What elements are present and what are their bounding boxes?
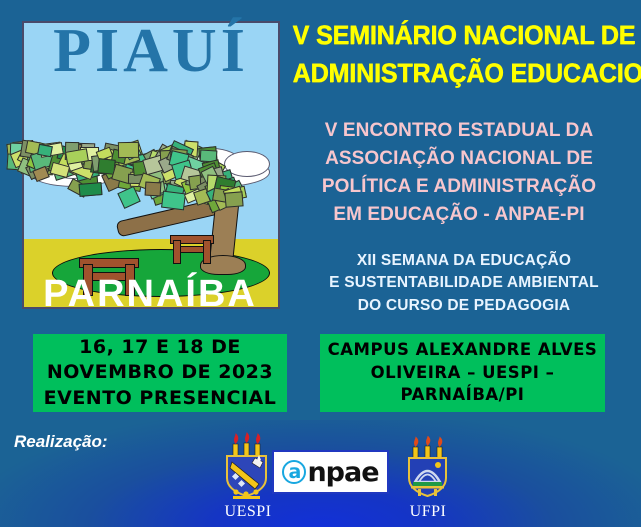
- tree-leaf: [225, 191, 244, 207]
- third-event-block: XII SEMANA DA EDUCAÇÃO E SUSTENTABILIDAD…: [290, 250, 638, 317]
- venue-line-3: PARNAÍBA/PI: [320, 384, 605, 406]
- tree-leaf: [161, 190, 186, 210]
- anpae-logo: anpae: [272, 450, 389, 494]
- date-line-1: 16, 17 E 18 DE: [33, 335, 287, 360]
- ufpi-logo-caption: UFPI: [395, 503, 461, 521]
- date-line-2: NOVEMBRO DE 2023: [33, 360, 287, 385]
- date-info-box: 16, 17 E 18 DE NOVEMBRO DE 2023 EVENTO P…: [33, 334, 287, 412]
- state-label: PIAUÍ: [24, 20, 278, 82]
- third-event-line-3: DO CURSO DE PEDAGOGIA: [290, 295, 638, 317]
- event-poster: PIAUÍ PARNAÍBA V SEMINÁRIO NACIONAL DE A…: [0, 0, 641, 527]
- uespi-logo-caption: UESPI: [213, 503, 283, 521]
- tree-leaf: [79, 182, 102, 196]
- subtitle-line-3: POLÍTICA E ADMINISTRAÇÃO: [280, 173, 638, 201]
- subtitle-line-2: ASSOCIAÇÃO NACIONAL DE: [280, 145, 638, 173]
- main-title-line-2: ADMINISTRAÇÃO EDUCACIONAL: [293, 54, 626, 92]
- subtitle-block: V ENCONTRO ESTADUAL DA ASSOCIAÇÃO NACION…: [280, 117, 638, 229]
- uespi-crest-icon: [219, 432, 277, 502]
- date-line-3: EVENTO PRESENCIAL: [33, 386, 287, 411]
- realizacao-label: Realização:: [14, 432, 108, 452]
- tree-leaf: [145, 182, 162, 197]
- anpae-wordmark-rest: npae: [307, 459, 378, 486]
- venue-line-2: OLIVEIRA – UESPI –: [320, 362, 605, 384]
- tree-leaf: [118, 142, 139, 159]
- anpae-wordmark: anpae: [282, 459, 378, 486]
- third-event-line-1: XII SEMANA DA EDUCAÇÃO: [290, 250, 638, 272]
- ufpi-crest-icon: [402, 436, 454, 502]
- city-label: PARNAÍBA: [10, 275, 290, 313]
- main-title: V SEMINÁRIO NACIONAL DE ADMINISTRAÇÃO ED…: [293, 16, 626, 93]
- subtitle-line-4: EM EDUCAÇÃO - ANPAE-PI: [280, 201, 638, 229]
- venue-line-1: CAMPUS ALEXANDRE ALVES: [320, 339, 605, 361]
- main-title-line-1: V SEMINÁRIO NACIONAL DE: [293, 16, 626, 54]
- anpae-wordmark-a: a: [282, 460, 306, 484]
- ufpi-logo-wrap: UFPI: [395, 436, 461, 521]
- venue-info-box: CAMPUS ALEXANDRE ALVES OLIVEIRA – UESPI …: [320, 334, 605, 412]
- subtitle-line-1: V ENCONTRO ESTADUAL DA: [280, 117, 638, 145]
- third-event-line-2: E SUSTENTABILIDADE AMBIENTAL: [290, 272, 638, 294]
